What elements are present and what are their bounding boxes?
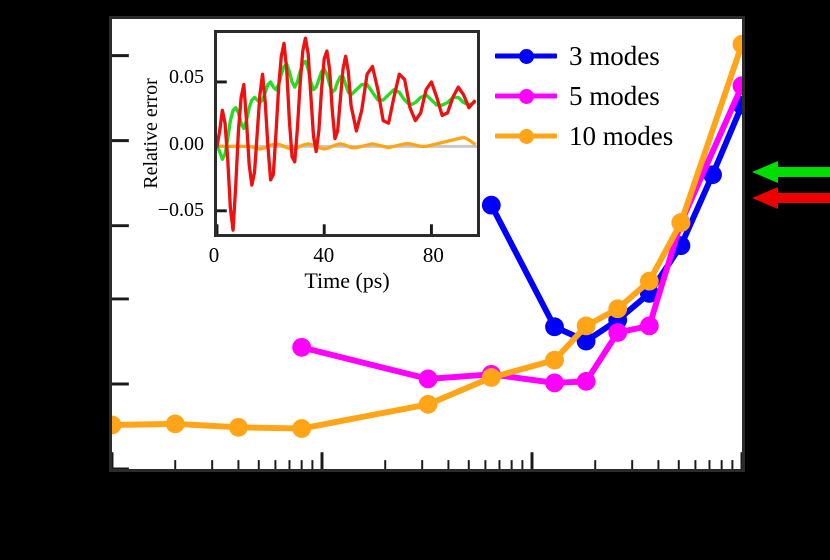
legend-swatch-10-modes	[495, 129, 557, 143]
legend-label-5-modes: 5 modes	[569, 83, 660, 110]
legend-swatch-3-modes	[495, 49, 557, 63]
inset-y-tick-label-0: 0.05	[126, 66, 204, 89]
inset-y-tick-label-2: −0.05	[126, 199, 204, 222]
legend-label-3-modes: 3 modes	[569, 43, 660, 70]
legend-swatch-5-modes	[495, 89, 557, 103]
legend-item-10-modes[interactable]: 10 modes	[495, 116, 735, 156]
inset-x-tick-label-1: 40	[299, 243, 349, 268]
legend-marker-3-modes	[519, 49, 534, 64]
inset-x-axis-label: Time (ps)	[222, 268, 472, 294]
legend-item-3-modes[interactable]: 3 modes	[495, 36, 735, 76]
inset-red-trace	[217, 38, 474, 230]
inset-y-tick-label-1: 0.00	[126, 133, 204, 156]
inset-plot-svg	[217, 33, 477, 234]
inset-x-tick-label-0: 0	[189, 243, 239, 268]
inset-plot-panel	[214, 30, 480, 237]
legend-label-10-modes: 10 modes	[569, 123, 673, 150]
legend-item-5-modes[interactable]: 5 modes	[495, 76, 735, 116]
legend-marker-5-modes	[519, 89, 534, 104]
legend: 3 modes 5 modes 10 modes	[495, 36, 735, 156]
inset-x-tick-label-2: 80	[408, 243, 458, 268]
green-reference-arrow-icon	[752, 160, 830, 184]
figure-canvas: Relative error 0.05 0.00 −0.05 0 40 80 T…	[0, 0, 830, 560]
red-reference-arrow-icon	[752, 186, 830, 210]
legend-marker-10-modes	[519, 129, 534, 144]
